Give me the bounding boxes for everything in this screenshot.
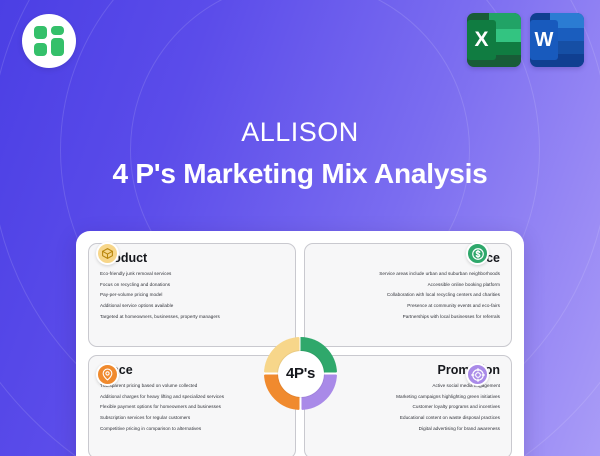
title-block: ALLISON 4 P's Marketing Mix Analysis	[0, 118, 600, 190]
list-item: Subscription services for regular custom…	[100, 416, 284, 421]
word-letter: W	[530, 20, 558, 60]
list-item: Accessible online booking platform	[316, 283, 500, 288]
brand-name: ALLISON	[0, 118, 600, 148]
quadrant-product[interactable]: Product Eco-friendly junk removal servic…	[88, 243, 296, 347]
list-item: Partnerships with local businesses for r…	[316, 315, 500, 320]
page-title: 4 P's Marketing Mix Analysis	[0, 158, 600, 190]
word-icon[interactable]: W	[530, 13, 584, 67]
quadrant-list: Transparent pricing based on volume coll…	[100, 384, 284, 432]
quadrant-list: Eco-friendly junk removal services Focus…	[100, 272, 284, 320]
package-icon	[96, 242, 119, 265]
target-icon	[466, 363, 489, 386]
quadrant-title: Place	[100, 364, 284, 378]
list-item: Educational content on waste disposal pr…	[316, 416, 500, 421]
office-app-icons: X W	[467, 13, 584, 67]
list-item: Additional charges for heavy lifting and…	[100, 395, 284, 400]
dollar-coin-icon	[466, 242, 489, 265]
grid-squares-icon	[34, 26, 64, 56]
list-item: Eco-friendly junk removal services	[100, 272, 284, 277]
quadrant-title: Product	[100, 252, 284, 266]
excel-icon[interactable]: X	[467, 13, 521, 67]
list-item: Digital advertising for brand awareness	[316, 427, 500, 432]
quadrant-list: Service areas include urban and suburban…	[316, 272, 500, 320]
excel-letter: X	[467, 20, 496, 60]
list-item: Additional service options available	[100, 304, 284, 309]
list-item: Marketing campaigns highlighting green i…	[316, 395, 500, 400]
list-item: Customer loyalty programs and incentives	[316, 405, 500, 410]
list-item: Targeted at homeowners, businesses, prop…	[100, 315, 284, 320]
app-logo[interactable]	[22, 14, 76, 68]
list-item: Flexible payment options for homeowners …	[100, 405, 284, 410]
list-item: Competitive pricing in comparison to alt…	[100, 427, 284, 432]
donut-center-label: 4P's	[264, 337, 337, 410]
list-item: Transparent pricing based on volume coll…	[100, 384, 284, 389]
list-item: Service areas include urban and suburban…	[316, 272, 500, 277]
list-item: Collaboration with local recycling cente…	[316, 293, 500, 298]
list-item: Focus on recycling and donations	[100, 283, 284, 288]
list-item: Pay-per-volume pricing model	[100, 293, 284, 298]
location-pin-icon	[96, 363, 119, 386]
list-item: Presence at community events and eco-fai…	[316, 304, 500, 309]
quadrant-list: Active social media engagement Marketing…	[316, 384, 500, 432]
